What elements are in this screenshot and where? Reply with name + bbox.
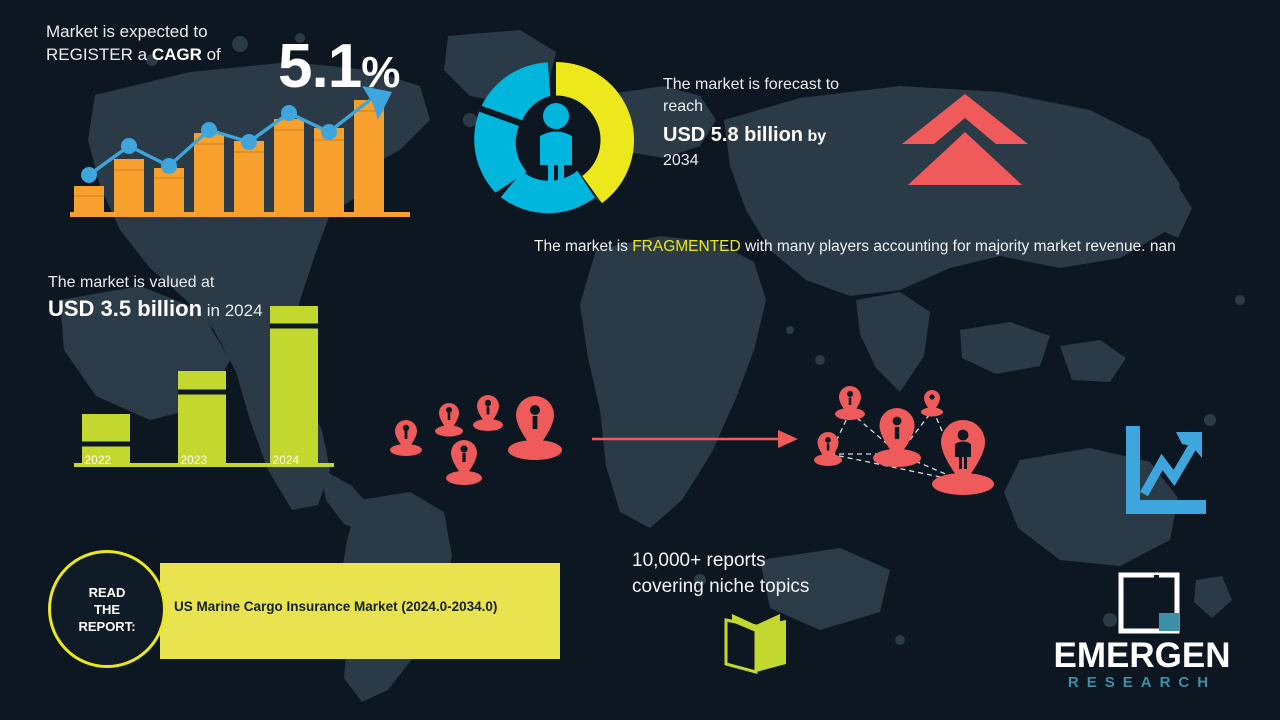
orange-chart-baseline <box>70 212 410 217</box>
green-bar-label-2024: 2024 <box>262 455 310 467</box>
map-pin <box>932 420 994 495</box>
cagr-lead-suffix: of <box>202 45 221 64</box>
forecast-year: 2034 <box>663 150 893 172</box>
map-pin <box>390 420 422 456</box>
map-pin <box>435 403 463 437</box>
reports-count-block: 10,000+ reports covering niche topics <box>632 548 932 600</box>
read-report-line2: THE <box>94 602 120 617</box>
map-pin <box>835 386 865 420</box>
logo-subtitle: RESEARCH <box>1022 674 1262 692</box>
green-bar-label-2022: 2022 <box>74 455 122 467</box>
market-value-bars-chart <box>74 296 334 471</box>
forecast-by-word: by <box>803 128 826 145</box>
read-report-button[interactable]: READ THE REPORT: <box>48 550 166 668</box>
read-report-line3: REPORT: <box>78 619 135 634</box>
growth-chart-icon <box>1118 422 1208 517</box>
reports-line2: covering niche topics <box>632 574 932 600</box>
fragmentation-suffix: with many players accounting for majorit… <box>741 238 1176 255</box>
reports-line1: 10,000+ reports <box>632 548 932 574</box>
open-book-icon <box>722 612 790 674</box>
fragmentation-prefix: The market is <box>534 238 632 255</box>
forecast-lead-line1: The market is forecast to <box>663 74 893 96</box>
donut-slice-cyan-3 <box>482 62 551 120</box>
map-pins-network-right <box>806 382 1021 502</box>
map-pin <box>473 395 503 431</box>
forecast-amount: USD 5.8 billion <box>663 124 803 146</box>
orange-bars <box>74 100 384 213</box>
report-title: US Marine Cargo Insurance Market (2024.0… <box>174 591 504 623</box>
valuation-lead: The market is valued at <box>48 272 378 294</box>
green-bar-label-2023: 2023 <box>170 455 218 467</box>
cagr-block: Market is expected to REGISTER a CAGR of… <box>46 20 446 66</box>
map-pin <box>921 390 943 417</box>
growth-trend-bars-chart <box>70 78 410 223</box>
forecast-value: USD 5.8 billion by <box>663 122 893 150</box>
green-bars <box>82 306 318 464</box>
forecast-block: The market is forecast to reach USD 5.8 … <box>663 74 893 172</box>
fragmentation-text: The market is FRAGMENTED with many playe… <box>534 236 1214 258</box>
logo-wordmark: EMERGEN <box>1022 636 1262 676</box>
fragmentation-highlight: FRAGMENTED <box>632 238 741 255</box>
map-pins-cluster-left <box>380 382 580 492</box>
logo-square-icon <box>1118 572 1180 634</box>
fragmentation-statement: The market is FRAGMENTED with many playe… <box>534 236 1214 258</box>
read-report-banner[interactable]: US Marine Cargo Insurance Market (2024.0… <box>160 563 560 659</box>
cagr-keyword: CAGR <box>152 45 202 64</box>
emergen-research-logo: EMERGEN RESEARCH <box>1022 572 1262 702</box>
map-pin <box>446 440 482 485</box>
market-share-donut-chart <box>466 52 646 227</box>
forecast-lead-line2: reach <box>663 96 893 118</box>
infographic-canvas: Market is expected to REGISTER a CAGR of… <box>0 0 1280 720</box>
read-report-label: READ THE REPORT: <box>78 584 135 635</box>
read-report-line1: READ <box>89 585 126 600</box>
up-arrows-icon <box>900 92 1030 187</box>
cagr-lead-prefix: REGISTER a <box>46 45 152 64</box>
map-pin <box>508 396 562 460</box>
flow-arrow-icon <box>592 424 802 454</box>
